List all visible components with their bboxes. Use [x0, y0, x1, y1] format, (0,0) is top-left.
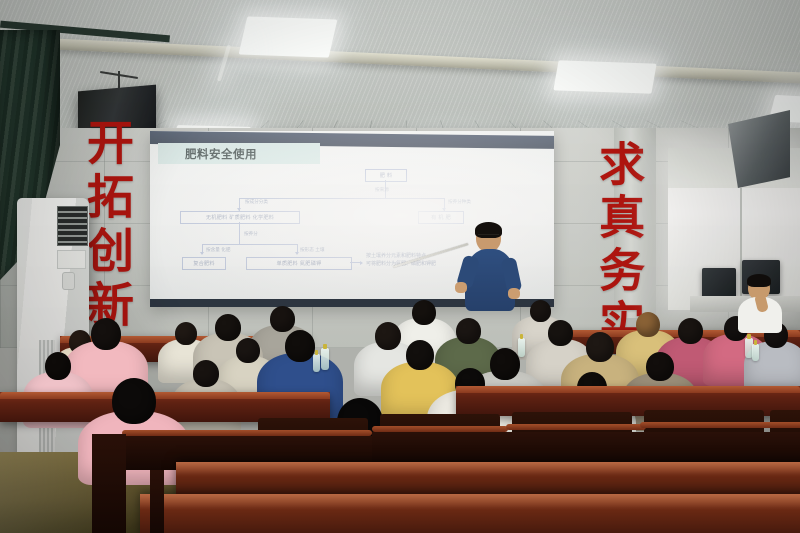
bench-panel	[372, 432, 800, 466]
attendee-head	[456, 318, 481, 344]
flowchart-edge-label: 按成分分类	[245, 199, 268, 205]
flowchart-connector	[239, 198, 445, 199]
ceiling-light-panel	[553, 60, 656, 93]
crt-monitor-left	[702, 268, 736, 298]
flowchart-edge-label: 按形态 土壤	[300, 247, 324, 253]
flowchart-edge-label: 按含量 化肥	[206, 247, 230, 253]
av-operator	[734, 276, 790, 330]
flowchart-edge-label: 按来源	[375, 187, 389, 193]
presenter	[452, 224, 536, 310]
attendee-head	[215, 314, 241, 341]
slide-title-text: 肥料安全使用	[185, 146, 257, 162]
ceiling-light-panel	[239, 16, 338, 57]
flowchart-node: 肥 料	[365, 169, 407, 182]
water-bottle	[518, 338, 525, 357]
presenter-hand-right	[455, 282, 467, 293]
flowchart-arrow-icon	[295, 252, 299, 255]
attendee-head	[112, 378, 156, 424]
attendee-head	[406, 340, 434, 370]
flowchart-node: 无机肥料 矿质肥料 化学肥料	[180, 211, 300, 224]
attendee-head	[193, 360, 219, 387]
desk-sheen	[176, 462, 800, 476]
slide-title-band: 肥料安全使用	[158, 143, 320, 164]
chair-top-rail	[640, 422, 800, 428]
front-desk-row-nearest	[140, 494, 800, 533]
flowchart-node: 单质肥料 氮肥磷钾	[246, 257, 352, 270]
attendee-head	[270, 306, 295, 332]
flowchart-connector	[350, 262, 362, 263]
attendee-head	[586, 332, 614, 362]
attendee-head	[45, 352, 71, 380]
flowchart-arrow-icon	[237, 208, 241, 211]
attendee-head	[646, 352, 674, 381]
flowchart-arrow-icon	[200, 252, 204, 255]
ac-control-panel	[57, 250, 86, 269]
attendee-head	[678, 318, 703, 344]
desk-leg	[150, 470, 164, 533]
flowchart-edge-label: 按养分	[244, 231, 258, 237]
ac-vent	[57, 206, 88, 246]
water-bottle	[321, 348, 329, 370]
desk-sheen	[140, 494, 800, 510]
desk-side-panel	[92, 434, 126, 533]
flowchart-node: 有 机 肥	[418, 211, 464, 224]
classroom-photo-scene: 开拓创新 求真务实 肥料安全使用 肥 料 无机肥料 矿质肥料 化学肥料 有 机 …	[0, 0, 800, 533]
flowchart-connector	[202, 244, 298, 245]
water-bottle	[313, 354, 320, 372]
flowchart-node: 复合肥料	[182, 257, 226, 270]
water-bottle	[752, 344, 759, 361]
attendee-head	[91, 318, 121, 350]
ac-knob	[62, 272, 75, 290]
flowchart-arrow-icon	[442, 208, 446, 211]
attendee-head	[285, 330, 315, 362]
bench-top-rail	[456, 386, 800, 393]
flowchart-connector	[239, 222, 240, 244]
presenter-hand-left	[508, 288, 520, 299]
flowchart-edge-label: 按养分种类	[448, 199, 471, 205]
chair-top-rail	[506, 424, 646, 430]
presenter-glasses-icon	[478, 234, 499, 239]
operator-hair	[747, 274, 771, 287]
